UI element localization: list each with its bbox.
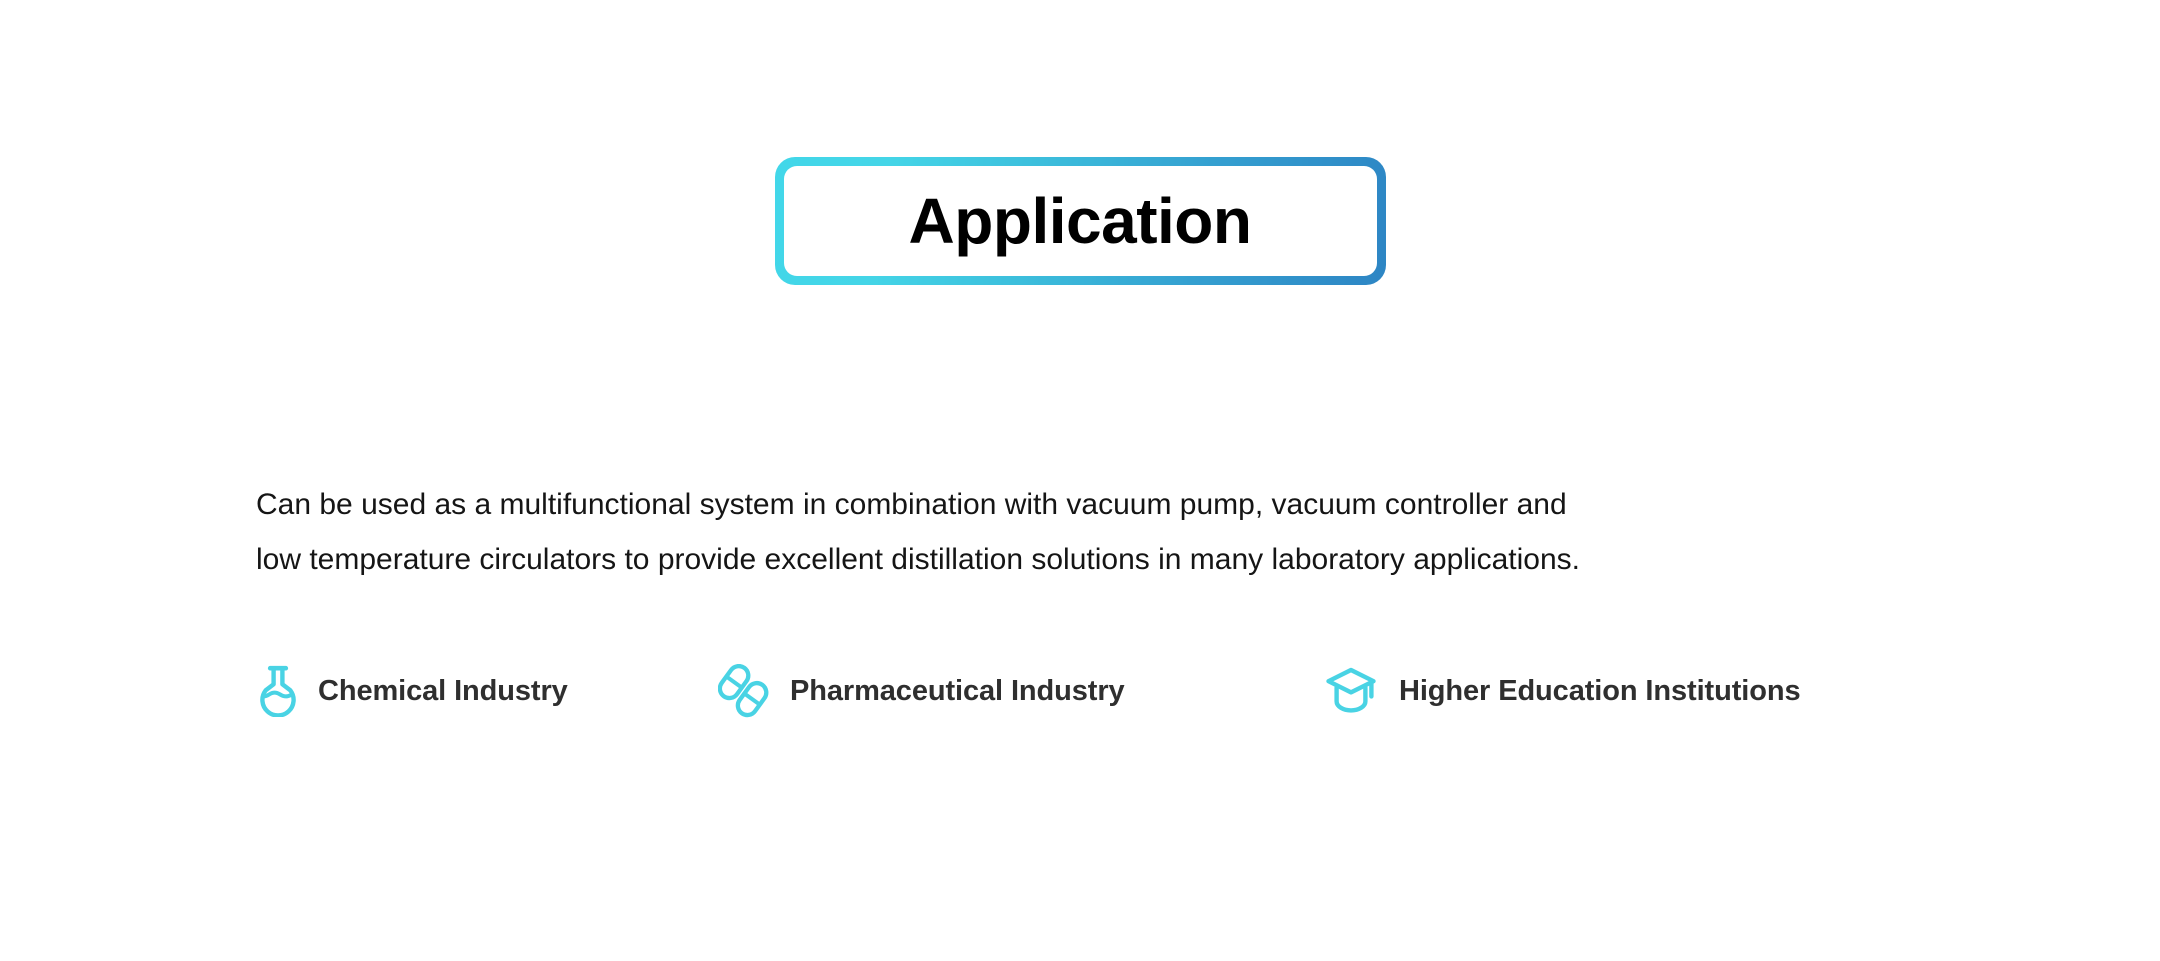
page-title-container: Application: [0, 157, 2160, 285]
application-list: Chemical Industry Pharmaceutical Industr…: [252, 655, 1952, 727]
description-paragraph: Can be used as a multifunctional system …: [256, 477, 1936, 587]
description-line-1: Can be used as a multifunctional system …: [256, 477, 1936, 532]
page-title: Application: [909, 189, 1252, 253]
page-title-badge: Application: [775, 157, 1386, 285]
flask-icon: [252, 663, 304, 719]
description-line-2: low temperature circulators to provide e…: [256, 532, 1936, 587]
application-item-chemical-industry: Chemical Industry: [252, 655, 568, 727]
application-label: Pharmaceutical Industry: [790, 675, 1125, 708]
application-label: Higher Education Institutions: [1399, 675, 1801, 708]
application-item-higher-education-institutions: Higher Education Institutions: [1325, 655, 1801, 727]
application-label: Chemical Industry: [318, 675, 568, 708]
graduation-cap-icon: [1325, 663, 1377, 719]
page-title-badge-inner: Application: [784, 166, 1377, 276]
application-item-pharmaceutical-industry: Pharmaceutical Industry: [718, 655, 1125, 727]
pills-icon: [718, 663, 770, 719]
